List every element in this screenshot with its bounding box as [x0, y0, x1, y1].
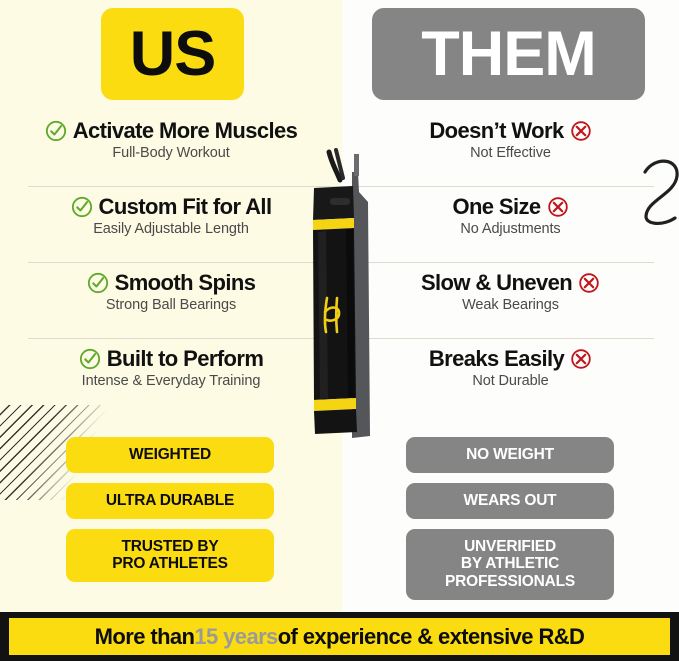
bottom-banner-frame: More than 15 years of experience & exten… [0, 612, 679, 661]
feature-row: Smooth Spins Strong Ball Bearings Slow &… [0, 262, 679, 337]
row-divider [28, 338, 654, 339]
us-feature-cell: Smooth Spins Strong Ball Bearings [0, 270, 342, 332]
them-badge-list: NO WEIGHT WEARS OUT UNVERIFIED BY ATHLET… [406, 437, 614, 610]
bottom-banner: More than 15 years of experience & exten… [9, 618, 670, 655]
us-feature-subtitle: Strong Ball Bearings [106, 297, 236, 313]
us-feature-subtitle: Intense & Everyday Training [82, 373, 261, 389]
them-feature-heading: Slow & Uneven [421, 270, 600, 296]
them-feature-subtitle: Weak Bearings [462, 297, 559, 313]
us-feature-subtitle: Easily Adjustable Length [93, 221, 249, 237]
circle-cross-icon [570, 120, 592, 142]
us-feature-heading: Smooth Spins [87, 270, 256, 296]
circle-check-icon [79, 348, 101, 370]
circle-cross-icon [547, 196, 569, 218]
them-feature-subtitle: No Adjustments [460, 221, 560, 237]
circle-check-icon [87, 272, 109, 294]
us-feature-subtitle: Full-Body Workout [112, 145, 229, 161]
row-divider [28, 262, 654, 263]
circle-check-icon [45, 120, 67, 142]
us-feature-title: Activate More Muscles [73, 118, 298, 144]
us-feature-title: Custom Fit for All [99, 194, 272, 220]
us-feature-cell: Built to Perform Intense & Everyday Trai… [0, 346, 342, 408]
them-feature-title: Breaks Easily [429, 346, 564, 372]
us-badge-list: WEIGHTED ULTRA DURABLE TRUSTED BY PRO AT… [66, 437, 274, 592]
them-feature-cell: Slow & Uneven Weak Bearings [342, 270, 679, 332]
them-feature-title: Doesn’t Work [429, 118, 563, 144]
us-feature-cell: Activate More Muscles Full-Body Workout [0, 118, 342, 180]
them-feature-cell: One Size No Adjustments [342, 194, 679, 256]
us-feature-cell: Custom Fit for All Easily Adjustable Len… [0, 194, 342, 256]
comparison-infographic: US THEM Activate More Muscles Full-Body … [0, 0, 679, 661]
us-feature-title: Smooth Spins [115, 270, 256, 296]
feature-rows: Activate More Muscles Full-Body Workout … [0, 110, 679, 410]
feature-row: Activate More Muscles Full-Body Workout … [0, 110, 679, 185]
them-feature-heading: Doesn’t Work [429, 118, 591, 144]
us-feature-heading: Built to Perform [79, 346, 264, 372]
them-feature-title: Slow & Uneven [421, 270, 572, 296]
us-feature-heading: Custom Fit for All [71, 194, 272, 220]
header-badge-them: THEM [372, 8, 645, 100]
row-divider [28, 186, 654, 187]
them-feature-title: One Size [452, 194, 540, 220]
header-badge-us: US [101, 8, 244, 100]
banner-accent-text: 15 years [194, 624, 277, 650]
them-feature-cell: Doesn’t Work Not Effective [342, 118, 679, 180]
them-feature-subtitle: Not Effective [470, 145, 551, 161]
circle-cross-icon [570, 348, 592, 370]
us-feature-heading: Activate More Muscles [45, 118, 298, 144]
feature-row: Custom Fit for All Easily Adjustable Len… [0, 186, 679, 261]
us-badge: ULTRA DURABLE [66, 483, 274, 519]
them-badge: UNVERIFIED BY ATHLETIC PROFESSIONALS [406, 529, 614, 600]
them-feature-heading: One Size [452, 194, 568, 220]
them-feature-heading: Breaks Easily [429, 346, 592, 372]
them-badge: NO WEIGHT [406, 437, 614, 473]
them-feature-subtitle: Not Durable [472, 373, 548, 389]
circle-cross-icon [578, 272, 600, 294]
banner-tail-text: of experience & extensive R&D [278, 624, 585, 650]
us-feature-title: Built to Perform [107, 346, 264, 372]
banner-lead-text: More than [95, 624, 195, 650]
us-badge: WEIGHTED [66, 437, 274, 473]
them-badge: WEARS OUT [406, 483, 614, 519]
circle-check-icon [71, 196, 93, 218]
us-badge: TRUSTED BY PRO ATHLETES [66, 529, 274, 583]
feature-row: Built to Perform Intense & Everyday Trai… [0, 338, 679, 413]
them-feature-cell: Breaks Easily Not Durable [342, 346, 679, 408]
column-headers: US THEM [0, 0, 679, 106]
